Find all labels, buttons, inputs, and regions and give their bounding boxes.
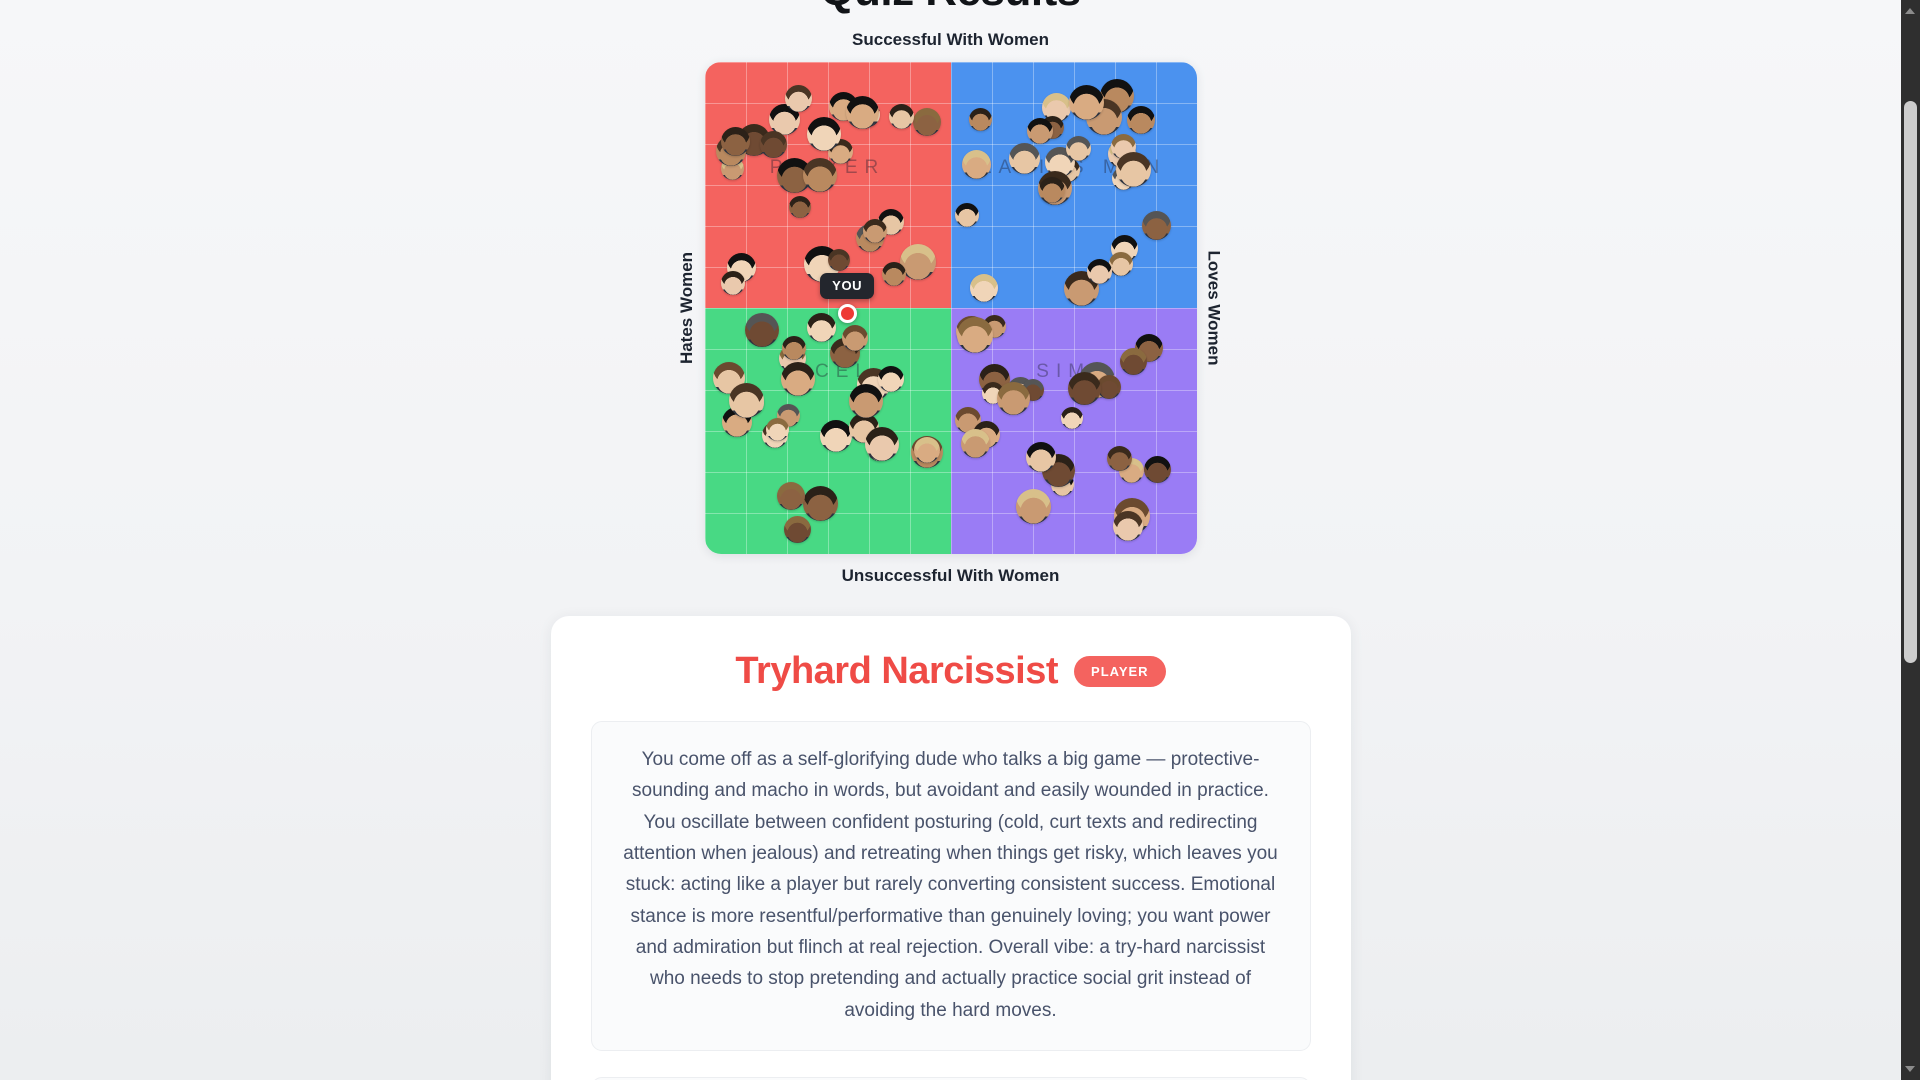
character-avatar [957,317,993,353]
scrollbar-thumb[interactable] [1904,101,1917,663]
result-badge: PLAYER [1074,656,1166,687]
page-scroll-container[interactable]: Quiz Results Successful With Women Hates… [0,0,1901,1080]
character-avatar [785,85,812,112]
character-avatar [782,336,806,360]
character-avatar [962,150,991,179]
you-marker-dot [838,304,857,323]
quadrant-chart[interactable]: PLAYER LADIES MAN INCEL SIMP YOU [705,62,1197,554]
result-header: Tryhard Narcissist PLAYER [735,650,1165,693]
vertical-scrollbar[interactable] [1901,0,1920,1080]
character-avatar [1061,407,1083,429]
character-avatar [1097,375,1121,399]
character-avatar [1066,136,1091,161]
character-avatar [1120,348,1147,375]
character-avatar [1069,85,1104,120]
character-avatar [863,219,887,243]
axis-label-left: Hates Women [671,298,705,318]
axis-label-right-text: Loves Women [1204,251,1224,366]
triangle-up-icon[interactable] [1905,8,1915,14]
axis-label-bottom: Unsuccessful With Women [842,566,1060,586]
character-avatar [1127,106,1155,134]
character-avatar [961,429,990,458]
result-title: Tryhard Narcissist [735,650,1058,693]
axis-label-left-text: Hates Women [678,252,698,364]
axis-label-top: Successful With Women [852,30,1049,50]
character-avatar [913,108,941,136]
character-avatar [1027,118,1053,144]
you-marker-label: YOU [820,273,874,299]
character-avatar [914,437,940,463]
character-avatar [729,383,764,418]
character-avatar [1087,259,1112,284]
page-title: Quiz Results [820,0,1081,16]
you-marker[interactable]: YOU [820,273,874,323]
character-avatar [878,366,904,392]
character-avatar [721,271,745,295]
character-avatar [766,418,789,441]
character-avatar [789,196,811,218]
character-avatar [777,482,805,510]
page-content: Quiz Results Successful With Women Hates… [0,0,1901,1080]
character-avatar [1107,446,1132,471]
character-avatar [882,262,906,286]
character-avatar [803,486,838,521]
character-avatar [760,131,787,158]
character-avatar [1039,177,1065,203]
result-description: You come off as a self-glorifying dude w… [591,721,1311,1051]
axis-label-right: Loves Women [1197,298,1231,318]
triangle-down-icon[interactable] [1905,1066,1915,1072]
character-avatar [745,313,779,347]
character-avatar [820,420,852,452]
character-avatar [849,384,883,418]
character-avatar [1026,442,1056,472]
character-avatar [997,382,1030,415]
chart-row: Hates Women PLAYER LADIES MAN INCEL SIMP… [671,62,1231,554]
character-avatar [1016,489,1051,524]
result-card: Tryhard Narcissist PLAYER You come off a… [551,616,1351,1080]
character-avatar [846,96,879,129]
character-avatar [1142,211,1171,240]
character-avatar [828,249,850,271]
character-avatar [807,117,841,151]
character-avatar [955,203,979,227]
character-avatar [1109,252,1133,276]
